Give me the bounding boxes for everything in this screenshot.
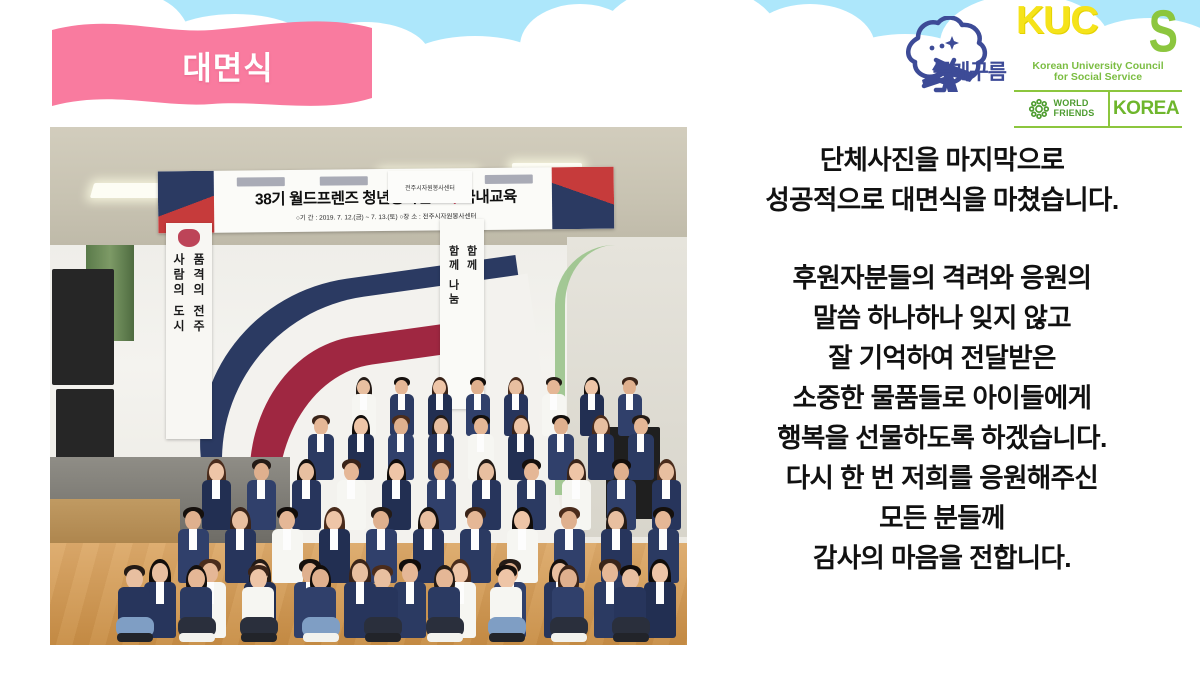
photo-person-seated bbox=[356, 565, 410, 641]
person-torso bbox=[118, 587, 150, 621]
person-head bbox=[659, 463, 674, 481]
korea-label: KOREA bbox=[1110, 98, 1182, 120]
photo-person-seated bbox=[232, 565, 286, 641]
person-torso bbox=[366, 587, 398, 621]
kucs-subtitle-line2: for Social Service bbox=[1014, 72, 1182, 84]
person-collar bbox=[617, 480, 625, 499]
person-head bbox=[614, 463, 629, 481]
message-paragraph: 단체사진을 마지막으로성공적으로 대면식을 마쳤습니다. bbox=[700, 140, 1184, 220]
person-collar bbox=[527, 480, 535, 499]
photo-crowd bbox=[50, 127, 687, 645]
person-torso bbox=[180, 587, 212, 621]
person-head bbox=[498, 569, 515, 589]
person-head bbox=[434, 418, 448, 435]
person-collar bbox=[565, 529, 573, 549]
world-friends-korea-logo: WORLD FRIENDS KOREA bbox=[1014, 90, 1182, 128]
world-friends-mark: WORLD FRIENDS bbox=[1014, 92, 1110, 126]
person-head bbox=[561, 511, 577, 530]
message-line: 소중한 물품들로 아이들에게 bbox=[700, 378, 1184, 418]
person-collar bbox=[357, 434, 364, 452]
person-shoes bbox=[365, 633, 401, 642]
message-line: 말씀 하나하나 잊지 않고 bbox=[700, 298, 1184, 338]
person-shoes bbox=[241, 633, 277, 642]
person-collar bbox=[392, 480, 400, 499]
person-head bbox=[433, 380, 446, 395]
person-head bbox=[467, 511, 483, 530]
message-line: 감사의 마음을 전합니다. bbox=[700, 538, 1184, 578]
message-line: 행복을 선물하도록 하겠습니다. bbox=[700, 418, 1184, 458]
person-torso bbox=[614, 587, 646, 621]
message-line: 다시 한 번 저희를 응원해주신 bbox=[700, 458, 1184, 498]
person-head bbox=[547, 380, 560, 395]
slide-canvas: 대면식 몽게구름 KUC S Korean University Cou bbox=[0, 0, 1200, 675]
person-shoes bbox=[551, 633, 587, 642]
person-collar bbox=[330, 529, 338, 549]
person-head bbox=[279, 511, 295, 530]
person-head bbox=[524, 463, 539, 481]
kucs-accent-letter: S bbox=[1149, 3, 1178, 62]
message-line: 잘 기억하여 전달받은 bbox=[700, 338, 1184, 378]
person-torso bbox=[552, 587, 584, 621]
person-collar bbox=[477, 434, 484, 452]
kucs-wordmark: KUC S bbox=[1014, 1, 1182, 45]
mongge-logo: 몽게구름 bbox=[884, 16, 1004, 112]
person-shoes bbox=[427, 633, 463, 642]
world-friends-gear-icon bbox=[1028, 98, 1050, 120]
person-collar bbox=[347, 480, 355, 499]
photo-person-seated bbox=[418, 565, 472, 641]
person-collar bbox=[398, 394, 404, 410]
person-collar bbox=[397, 434, 404, 452]
person-head bbox=[126, 569, 143, 589]
person-collar bbox=[437, 480, 445, 499]
person-shoes bbox=[613, 633, 649, 642]
person-head bbox=[569, 463, 584, 481]
kucs-logo: KUC S Korean University Council for Soci… bbox=[1014, 1, 1182, 128]
person-head bbox=[312, 569, 329, 589]
person-collar bbox=[236, 529, 244, 549]
person-head bbox=[509, 380, 522, 395]
message-text: 단체사진을 마지막으로성공적으로 대면식을 마쳤습니다.후원자분들의 격려와 응… bbox=[700, 140, 1184, 578]
photo-person-seated bbox=[480, 565, 534, 641]
person-head bbox=[655, 511, 671, 530]
person-collar bbox=[437, 434, 444, 452]
person-collar bbox=[482, 480, 490, 499]
page-title: 대면식 bbox=[52, 20, 372, 112]
person-head bbox=[354, 418, 368, 435]
world-friends-text: WORLD FRIENDS bbox=[1054, 99, 1095, 118]
person-collar bbox=[189, 529, 197, 549]
person-head bbox=[344, 463, 359, 481]
person-collar bbox=[662, 480, 670, 499]
person-collar bbox=[612, 529, 620, 549]
person-head bbox=[374, 569, 391, 589]
person-head bbox=[394, 418, 408, 435]
person-head bbox=[188, 569, 205, 589]
person-head bbox=[585, 380, 598, 395]
person-collar bbox=[283, 529, 291, 549]
person-torso bbox=[242, 587, 274, 621]
person-collar bbox=[212, 480, 220, 499]
person-head bbox=[514, 418, 528, 435]
person-collar bbox=[302, 480, 310, 499]
person-collar bbox=[597, 434, 604, 452]
person-collar bbox=[517, 434, 524, 452]
person-collar bbox=[557, 434, 564, 452]
person-torso bbox=[428, 587, 460, 621]
person-head bbox=[479, 463, 494, 481]
person-collar bbox=[626, 394, 632, 410]
person-head bbox=[314, 418, 328, 435]
photo-person-seated bbox=[170, 565, 224, 641]
person-collar bbox=[471, 529, 479, 549]
person-collar bbox=[518, 529, 526, 549]
person-collar bbox=[317, 434, 324, 452]
person-head bbox=[594, 418, 608, 435]
person-collar bbox=[512, 394, 518, 410]
person-head bbox=[471, 380, 484, 395]
person-head bbox=[357, 380, 370, 395]
person-head bbox=[373, 511, 389, 530]
person-shoes bbox=[489, 633, 525, 642]
person-head bbox=[474, 418, 488, 435]
person-head bbox=[254, 463, 269, 481]
message-line: 후원자분들의 격려와 응원의 bbox=[700, 258, 1184, 298]
person-shoes bbox=[117, 633, 153, 642]
person-collar bbox=[572, 480, 580, 499]
message-line: 단체사진을 마지막으로 bbox=[700, 140, 1184, 180]
person-shoes bbox=[303, 633, 339, 642]
person-torso bbox=[304, 587, 336, 621]
logo-row: 몽게구름 KUC S Korean University Council for… bbox=[884, 8, 1182, 120]
photo-person-seated bbox=[542, 565, 596, 641]
person-head bbox=[434, 463, 449, 481]
person-shoes bbox=[179, 633, 215, 642]
kucs-letters: KUC bbox=[1016, 0, 1098, 43]
group-photo: 38기 월드프렌즈 청년봉사단 3차 국내교육 ○기 간 : 2019. 7. … bbox=[50, 127, 687, 645]
person-head bbox=[634, 418, 648, 435]
person-head bbox=[209, 463, 224, 481]
person-collar bbox=[637, 434, 644, 452]
person-collar bbox=[474, 394, 480, 410]
photo-person-seated bbox=[604, 565, 658, 641]
person-head bbox=[299, 463, 314, 481]
message-paragraph: 후원자분들의 격려와 응원의말씀 하나하나 잊지 않고잘 기억하여 전달받은소중… bbox=[700, 258, 1184, 578]
world-friends-line2: FRIENDS bbox=[1054, 109, 1095, 119]
person-collar bbox=[377, 529, 385, 549]
photo-person-seated bbox=[294, 565, 348, 641]
person-head bbox=[395, 380, 408, 395]
person-head bbox=[436, 569, 453, 589]
person-collar bbox=[424, 529, 432, 549]
person-torso bbox=[490, 587, 522, 621]
message-line: 성공적으로 대면식을 마쳤습니다. bbox=[700, 180, 1184, 220]
title-ribbon: 대면식 bbox=[52, 20, 372, 112]
person-collar bbox=[257, 480, 265, 499]
mongge-logo-text: 몽게구름 bbox=[933, 56, 1006, 86]
person-collar bbox=[659, 529, 667, 549]
person-collar bbox=[550, 394, 556, 410]
photo-person-seated bbox=[108, 565, 162, 641]
person-collar bbox=[436, 394, 442, 410]
person-head bbox=[554, 418, 568, 435]
person-head bbox=[250, 569, 267, 589]
person-head bbox=[623, 380, 636, 395]
person-head bbox=[185, 511, 201, 530]
person-head bbox=[622, 569, 639, 589]
person-collar bbox=[360, 394, 366, 410]
message-line: 모든 분들께 bbox=[700, 498, 1184, 538]
person-head bbox=[389, 463, 404, 481]
person-collar bbox=[588, 394, 594, 410]
person-head bbox=[560, 569, 577, 589]
